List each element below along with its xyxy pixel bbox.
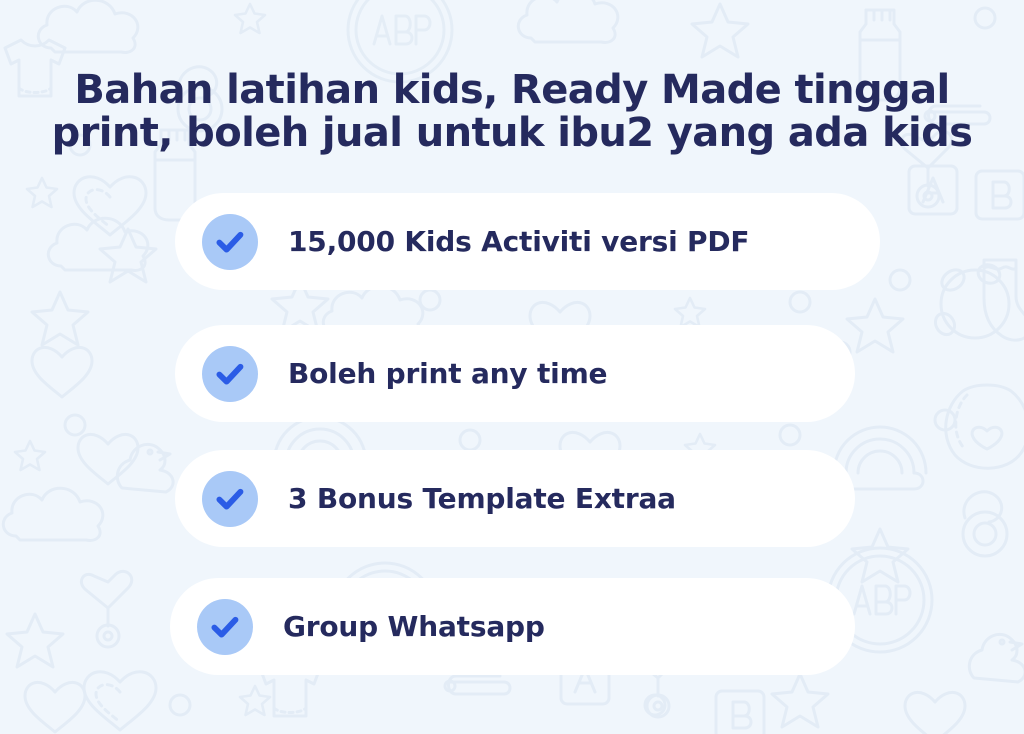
feature-label: Group Whatsapp [283,610,545,643]
page-title: Bahan latihan kids, Ready Made tinggal p… [0,69,1024,155]
feature-card-1[interactable]: 15,000 Kids Activiti versi PDF [175,193,880,290]
check-icon [202,214,258,270]
feature-label: 3 Bonus Template Extraa [288,482,676,515]
headline-line-2: print, boleh jual untuk ibu2 yang ada ki… [0,112,1024,155]
feature-card-3[interactable]: 3 Bonus Template Extraa [175,450,855,547]
feature-label: Boleh print any time [288,357,607,390]
check-icon [197,599,253,655]
feature-card-2[interactable]: Boleh print any time [175,325,855,422]
headline-line-1: Bahan latihan kids, Ready Made tinggal [0,69,1024,112]
feature-card-4[interactable]: Group Whatsapp [170,578,855,675]
check-icon [202,471,258,527]
promo-poster: Bahan latihan kids, Ready Made tinggal p… [0,0,1024,734]
check-icon [202,346,258,402]
feature-label: 15,000 Kids Activiti versi PDF [288,225,749,258]
